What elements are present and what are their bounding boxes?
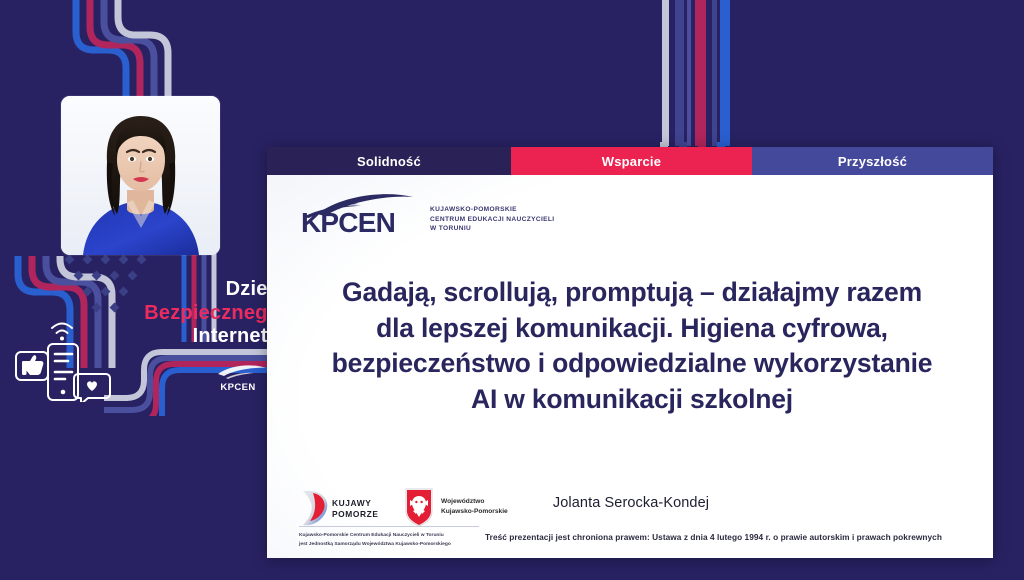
legal-institution-line-2: jest Jednostką Samorządu Województwa Kuj… <box>299 541 479 550</box>
kpcen-wordmark: KPCEN <box>301 207 395 239</box>
tab-solidnosc[interactable]: Solidność <box>267 147 511 175</box>
svg-text:KPCEN: KPCEN <box>220 382 255 392</box>
legal-institution-note: Kujawsko-Pomorskie Centrum Edukacji Nauc… <box>299 526 479 549</box>
slide-tab-bar: Solidność Wsparcie Przyszłość <box>267 147 993 175</box>
curved-ribbon-top-left <box>64 0 244 100</box>
presentation-slide[interactable]: Solidność Wsparcie Przyszłość KPCEN KUJA… <box>267 147 993 558</box>
kpcen-subtitle-line-3: W TORUNIU <box>430 224 554 234</box>
speaker-portrait-card <box>61 96 220 255</box>
speaker-portrait-image <box>61 96 220 255</box>
tab-wsparcie[interactable]: Wsparcie <box>511 147 752 175</box>
kpcen-subtitle-line-1: KUJAWSKO-POMORSKIE <box>430 205 554 215</box>
thumbs-up-icon <box>16 352 48 380</box>
heart-speech-bubble-icon <box>74 374 110 402</box>
slide-title: Gadają, scrollują, promptują – działajmy… <box>307 275 957 417</box>
kpcen-subtitle-line-2: CENTRUM EDUKACJI NAUCZYCIELI <box>430 215 554 225</box>
campaign-line-2: Bezpiecznego <box>120 302 280 326</box>
campaign-wordmark: Dzień Bezpiecznego Internetu <box>120 278 280 349</box>
presentation-background: Dzień Bezpiecznego Internetu KPCEN Solid… <box>0 0 1024 580</box>
slide-legal-bar: Kujawsko-Pomorskie Centrum Edukacji Nauc… <box>267 518 993 558</box>
tab-przyszlosc[interactable]: Przyszłość <box>752 147 993 175</box>
slide-title-line-1: Gadają, scrollują, promptują – działajmy… <box>307 275 957 311</box>
wifi-icon <box>52 324 72 341</box>
campaign-line-1: Dzień <box>120 278 280 302</box>
social-media-icon-cluster <box>14 318 124 402</box>
slide-title-line-4: AI w komunikacji szkolnej <box>307 382 957 418</box>
slide-title-line-2: dla lepszej komunikacji. Higiena cyfrowa… <box>307 311 957 347</box>
kpcen-logo: KPCEN KUJAWSKO-POMORSKIE CENTRUM EDUKACJ… <box>301 192 554 238</box>
author-name: Jolanta Serocka-Kondej <box>299 495 963 511</box>
kpcen-bird-mark: KPCEN <box>301 192 421 238</box>
slide-content: KPCEN KUJAWSKO-POMORSKIE CENTRUM EDUKACJ… <box>267 175 993 558</box>
kpcen-subtitle: KUJAWSKO-POMORSKIE CENTRUM EDUKACJI NAUC… <box>430 205 554 238</box>
legal-copyright-note: Treść prezentacji jest chroniona prawem:… <box>485 532 979 542</box>
vertical-stripes-decoration <box>662 0 752 152</box>
slide-title-line-3: bezpieczeństwo i odpowiedzialne wykorzys… <box>307 346 957 382</box>
campaign-line-3: Internetu <box>120 325 280 349</box>
legal-institution-line-1: Kujawsko-Pomorskie Centrum Edukacji Nauc… <box>299 532 479 541</box>
